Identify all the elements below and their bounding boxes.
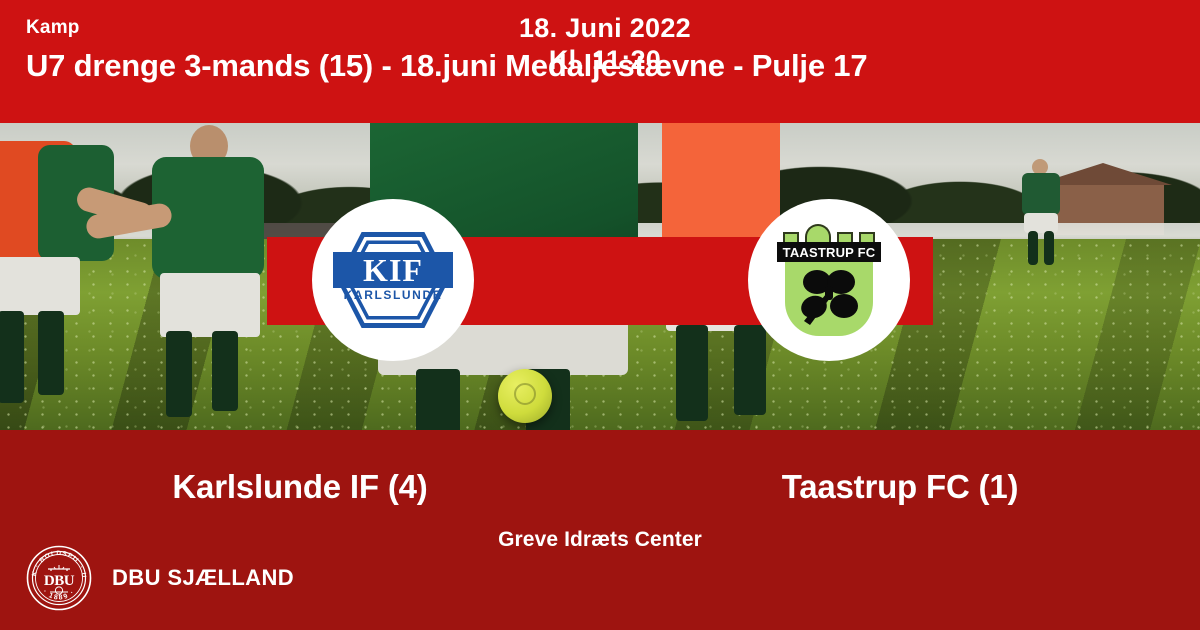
taastrup-name: TAASTRUP FC (777, 242, 881, 262)
match-card: Kamp U7 drenge 3-mands (15) - 18.juni Me… (0, 0, 1200, 630)
home-team-logo: KIF KARLSLUNDE (312, 199, 474, 361)
dbu-emblem-icon: DANSK · BOLDSPIL · UNION · 1889 · DBU (26, 545, 92, 611)
football (498, 369, 552, 423)
kif-initials: KIF (333, 252, 453, 288)
svg-text:· 1889 ·: · 1889 · (41, 588, 77, 601)
clover-icon (792, 266, 866, 328)
organisation-name: DBU SJÆLLAND (112, 565, 294, 591)
footer: DANSK · BOLDSPIL · UNION · 1889 · DBU DB… (26, 545, 294, 611)
date-band-text: 18. Juni 2022 Kl. 11:20 (440, 0, 770, 88)
home-team-name: Karlslunde IF (4) (90, 468, 510, 506)
player-silhouette (1010, 159, 1070, 279)
match-date: 18. Juni 2022 (519, 12, 691, 44)
kif-club-name: KARLSLUNDE (331, 288, 455, 302)
battlement-icon (783, 222, 875, 244)
team-names-row: Karlslunde IF (4) Taastrup FC (1) (0, 468, 1200, 506)
away-team-name: Taastrup FC (1) (690, 468, 1110, 506)
away-team-logo: TAASTRUP FC (748, 199, 910, 361)
kif-crest-icon: KIF KARLSLUNDE (331, 224, 455, 336)
match-time: Kl. 11:20 (549, 44, 661, 76)
taastrup-crest-icon: TAASTRUP FC (777, 222, 881, 338)
